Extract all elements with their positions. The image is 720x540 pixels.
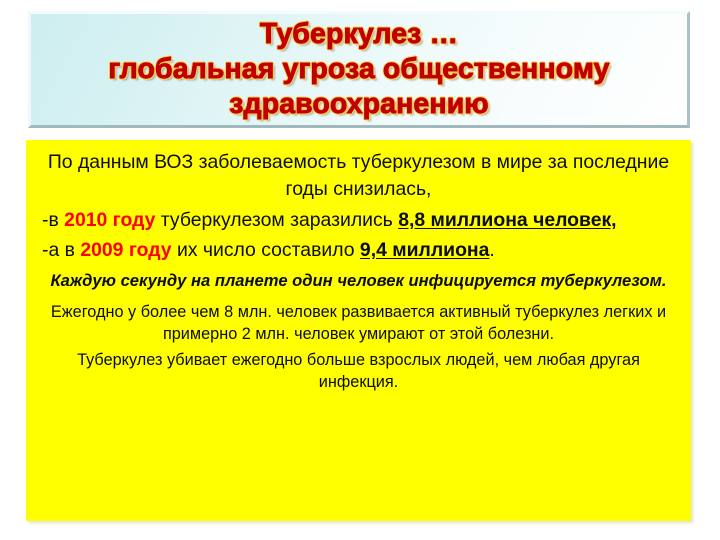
title-plate: Туберкулез … глобальная угроза обществен… [28, 11, 690, 128]
bullet-2009-middle: их число составило [172, 239, 360, 261]
slide-canvas: Туберкулез … глобальная угроза обществен… [0, 0, 720, 540]
bullet-2010-middle: туберкулезом заразились [155, 209, 398, 231]
bullet-2009-year: 2009 году [80, 239, 171, 261]
bullet-2010-stat: 8,8 миллиона человек, [398, 209, 616, 231]
slide-title: Туберкулез … глобальная угроза обществен… [31, 17, 687, 122]
paragraph-emphasis: Каждую секунду на планете один человек и… [42, 270, 675, 293]
paragraph-bullet-2009: -а в 2009 году их число составило 9,4 ми… [42, 237, 675, 264]
paragraph-intro: По данным ВОЗ заболеваемость туберкулезо… [42, 149, 675, 202]
bullet-2009-tail: . [489, 239, 494, 261]
paragraph-bullet-2010: -в 2010 году туберкулезом заразились 8,8… [42, 207, 675, 234]
content-panel: По данным ВОЗ заболеваемость туберкулезо… [26, 140, 691, 521]
bullet-2010-year: 2010 году [64, 209, 155, 231]
paragraph-detail: Ежегодно у более чем 8 млн. человек разв… [42, 301, 675, 346]
bullet-2009-lead: -а в [42, 239, 80, 261]
bullet-2010-lead: -в [42, 209, 64, 231]
bullet-2009-stat: 9,4 миллиона [360, 239, 490, 261]
paragraph-closing: Туберкулез убивает ежегодно больше взрос… [42, 349, 675, 394]
